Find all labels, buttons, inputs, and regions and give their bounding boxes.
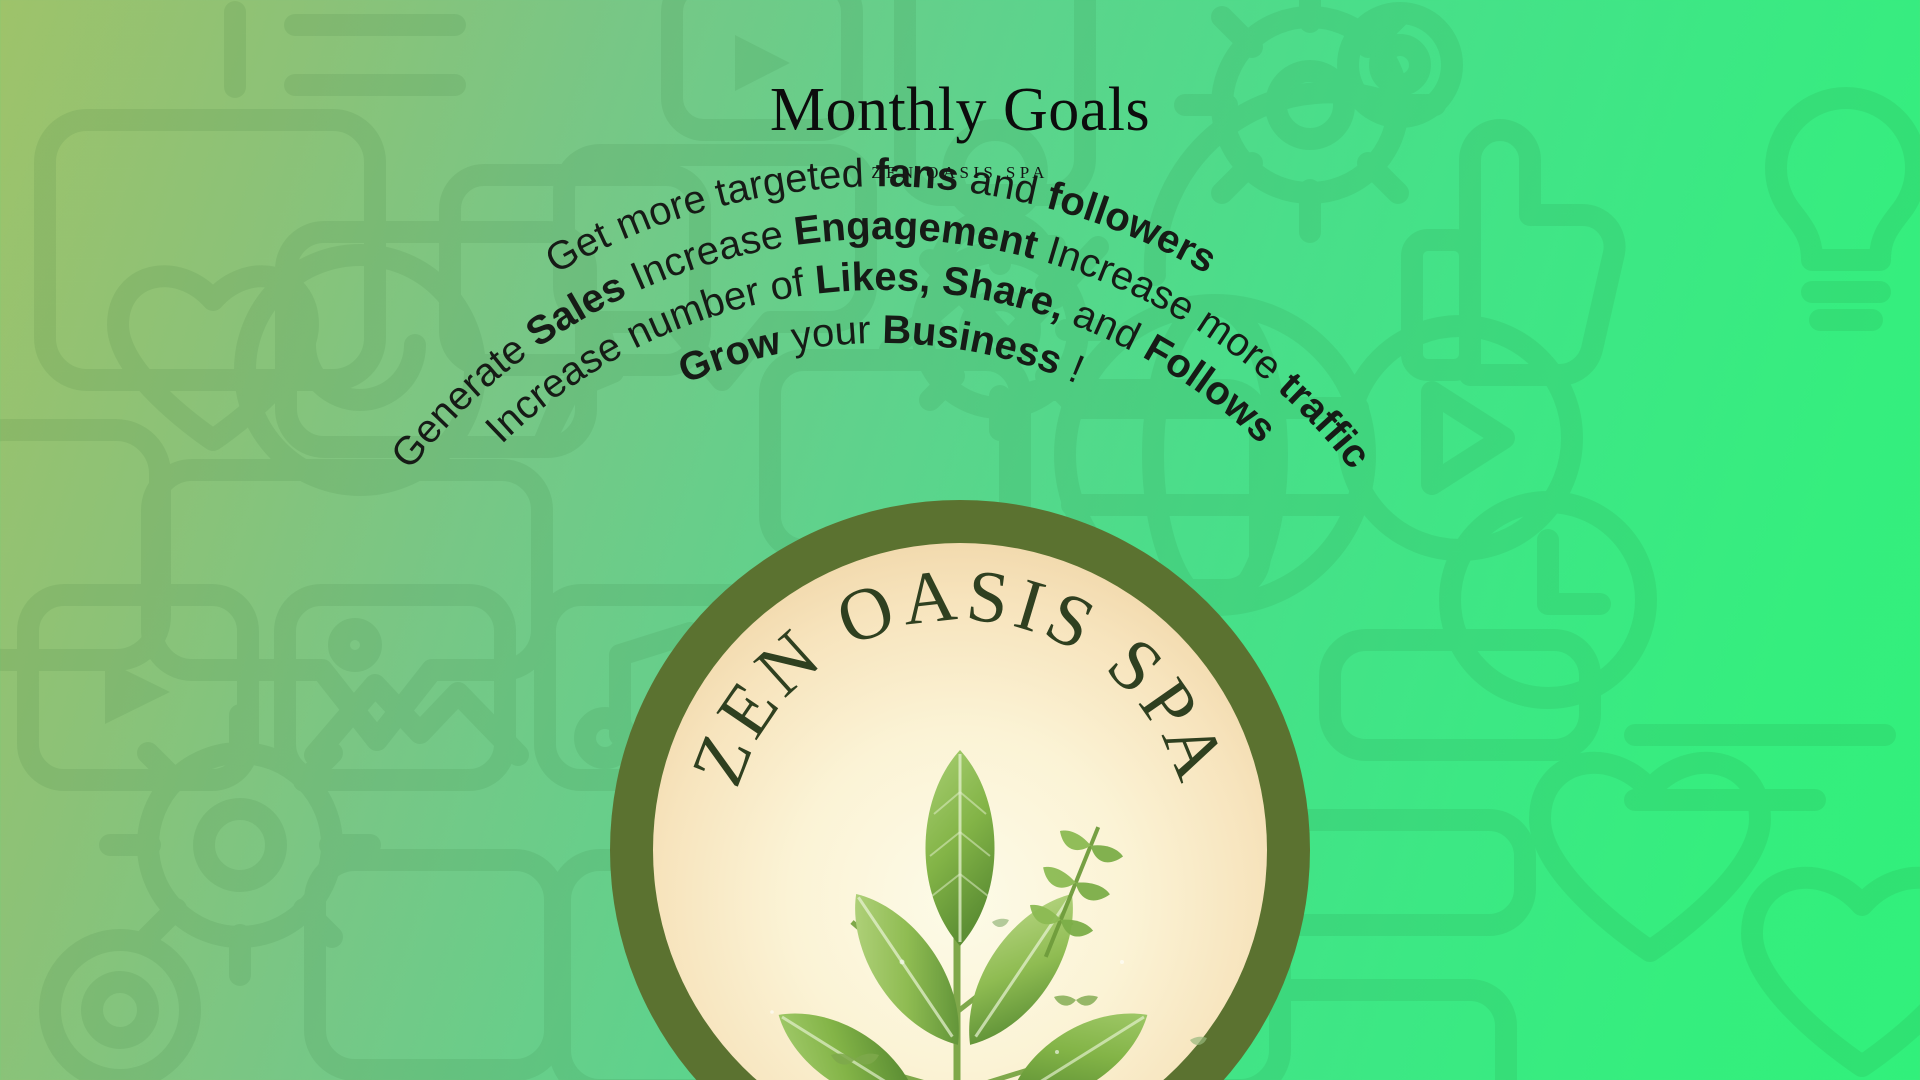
gear-icon [900,230,1100,430]
brand-subtitle: ZEN OASIS SPA [0,163,1920,183]
gear-icon [110,715,370,975]
cursor-icon [545,330,613,440]
clock-icon [1450,502,1646,698]
arc-word-your: your [788,308,871,360]
card-icon [286,232,586,447]
card-icon [1330,640,1590,750]
arc-line-likes-share-follows: Increase number of Likes, Share, and Fol… [477,255,1285,451]
heart-icon [1540,763,1760,951]
brand-logo: ZEN OASIS SPA [602,492,1318,1080]
arc-word-business: Business [882,308,1068,384]
image-icon [285,595,518,780]
arc-word-engagement: Engagement [792,204,1043,268]
arc-line-grow-business: Grow your Business ! [672,308,1090,392]
card-icon [450,175,700,365]
lines-icon [235,12,455,87]
arc-word-follows: Follows [1137,326,1285,451]
heart-icon [118,276,308,440]
arc-word-increase-2: Increase [624,212,786,299]
page-header: Monthly Goals ZEN OASIS SPA [0,78,1920,183]
arc-word-increase-more: Increase more [1042,228,1290,389]
arrow-growth-icon [890,246,1098,350]
card-icon [0,430,160,660]
arc-word-increase-1: Increase [477,324,629,452]
gear-icon [50,940,190,1080]
heart-icon [1752,878,1920,1066]
arc-word-and-1: and [1067,291,1147,359]
arc-line-sales-engagement-traffic: Generate Sales Increase Engagement Incre… [383,204,1380,477]
card-icon [315,860,555,1070]
speech-bubble-icon [564,155,866,380]
lines-icon [1635,735,1885,800]
arc-word-grow: Grow [672,318,785,391]
speech-bubble-icon [152,470,542,740]
arc-word-exclaim: ! [1063,347,1090,392]
arc-word-traffic: traffic [1270,364,1379,477]
arc-word-number: number [619,269,764,357]
arc-word-share: Share, [940,258,1071,328]
arc-word-followers: followers [1043,174,1224,282]
smiley-icon [245,255,475,485]
play-button-icon [1348,326,1572,550]
arc-word-likes: Likes, [813,255,932,303]
arc-word-sales: Sales [518,264,632,355]
arc-word-of: of [766,260,807,309]
page-title: Monthly Goals [0,78,1920,143]
play-button-icon [28,595,248,780]
arc-word-generate: Generate [383,327,535,477]
